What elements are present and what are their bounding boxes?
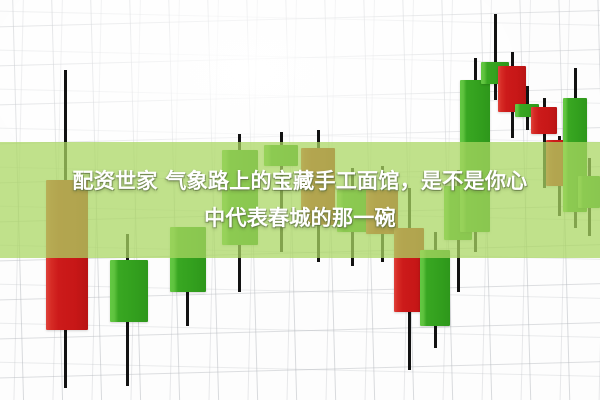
candlestick-series <box>0 0 600 400</box>
candle-body-up <box>578 176 600 208</box>
candle-body-down <box>531 107 557 134</box>
candle-body-up <box>420 250 450 326</box>
candlestick-chart-banner: 配资世家 气象路上的宝藏手工面馆，是不是你心中代表春城的那一碗 <box>0 0 600 400</box>
candle-body-up <box>170 227 206 292</box>
candle-body-up <box>110 260 148 322</box>
candle-body-up <box>264 145 298 166</box>
candle-body-up <box>337 190 367 232</box>
candle-wick <box>494 14 497 100</box>
candle-body-up <box>222 150 258 245</box>
candle-body-down <box>46 180 88 330</box>
candle-body-down <box>301 148 335 225</box>
candle-body-down <box>366 190 398 234</box>
candle-body-up <box>460 80 490 232</box>
